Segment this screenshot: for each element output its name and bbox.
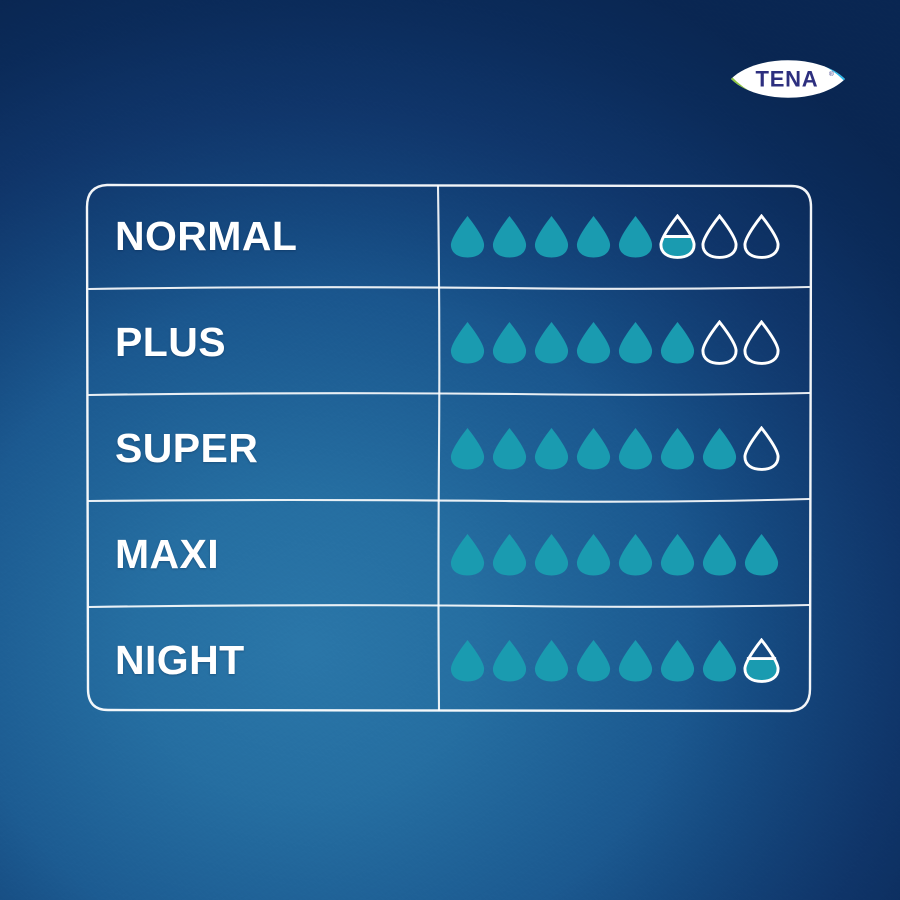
- row-label-maxi: MAXI: [115, 534, 219, 575]
- drop-full-icon: [490, 320, 529, 365]
- drop-empty-icon: [742, 320, 781, 365]
- table-row: NIGHT: [85, 607, 813, 713]
- drop-full-icon: [448, 214, 487, 259]
- drop-full-icon: [658, 638, 697, 683]
- drop-full-icon: [532, 426, 571, 471]
- table-row: MAXI: [85, 501, 813, 607]
- row-drops-cell-plus: [438, 320, 813, 365]
- drop-full-icon: [700, 532, 739, 577]
- drop-full-icon: [532, 320, 571, 365]
- drop-full-icon: [658, 532, 697, 577]
- row-label-night: NIGHT: [115, 640, 245, 681]
- drop-full-icon: [616, 214, 655, 259]
- row-drops-cell-normal: [438, 214, 813, 259]
- drop-full-icon: [700, 638, 739, 683]
- row-drops-cell-night: [438, 638, 813, 683]
- tena-wordmark: TENA: [756, 67, 819, 92]
- drop-rating-super: [448, 426, 781, 471]
- drop-half-icon: [658, 214, 697, 259]
- drop-full-icon: [574, 426, 613, 471]
- drop-full-icon: [574, 638, 613, 683]
- row-label-cell-normal: NORMAL: [85, 216, 438, 257]
- drop-full-icon: [574, 532, 613, 577]
- drop-full-icon: [448, 426, 487, 471]
- drop-full-icon: [448, 532, 487, 577]
- row-label-cell-super: SUPER: [85, 428, 438, 469]
- drop-full-icon: [490, 532, 529, 577]
- row-drops-cell-maxi: [438, 532, 813, 577]
- drop-full-icon: [532, 638, 571, 683]
- drop-full-icon: [742, 532, 781, 577]
- drop-rating-normal: [448, 214, 781, 259]
- drop-full-icon: [616, 426, 655, 471]
- drop-full-icon: [490, 214, 529, 259]
- row-label-cell-night: NIGHT: [85, 640, 438, 681]
- drop-full-icon: [448, 320, 487, 365]
- drop-full-icon: [490, 638, 529, 683]
- drop-full-icon: [616, 532, 655, 577]
- drop-rating-maxi: [448, 532, 781, 577]
- drop-empty-icon: [742, 214, 781, 259]
- drop-full-icon: [616, 638, 655, 683]
- trademark-symbol: ®: [829, 70, 834, 78]
- row-drops-cell-super: [438, 426, 813, 471]
- drop-full-icon: [616, 320, 655, 365]
- table-row: NORMAL: [85, 183, 813, 289]
- poster-canvas: TENA ® NORMAL: [0, 0, 900, 900]
- table-row: PLUS: [85, 289, 813, 395]
- drop-full-icon: [700, 426, 739, 471]
- drop-full-icon: [658, 426, 697, 471]
- row-label-plus: PLUS: [115, 322, 226, 363]
- absorbency-table-card: NORMAL: [85, 183, 813, 713]
- drop-full-icon: [532, 532, 571, 577]
- drop-full-icon: [574, 320, 613, 365]
- drop-full-icon: [658, 320, 697, 365]
- drop-full-icon: [532, 214, 571, 259]
- row-label-super: SUPER: [115, 428, 258, 469]
- table-row: SUPER: [85, 395, 813, 501]
- tena-logo: TENA ®: [729, 50, 847, 108]
- absorbency-rows: NORMAL: [85, 183, 813, 713]
- drop-rating-night: [448, 638, 781, 683]
- row-label-cell-plus: PLUS: [85, 322, 438, 363]
- drop-full-icon: [490, 426, 529, 471]
- row-label-cell-maxi: MAXI: [85, 534, 438, 575]
- row-label-normal: NORMAL: [115, 216, 297, 257]
- drop-empty-icon: [700, 214, 739, 259]
- drop-half-icon: [742, 638, 781, 683]
- drop-empty-icon: [700, 320, 739, 365]
- drop-empty-icon: [742, 426, 781, 471]
- drop-full-icon: [574, 214, 613, 259]
- drop-rating-plus: [448, 320, 781, 365]
- drop-full-icon: [448, 638, 487, 683]
